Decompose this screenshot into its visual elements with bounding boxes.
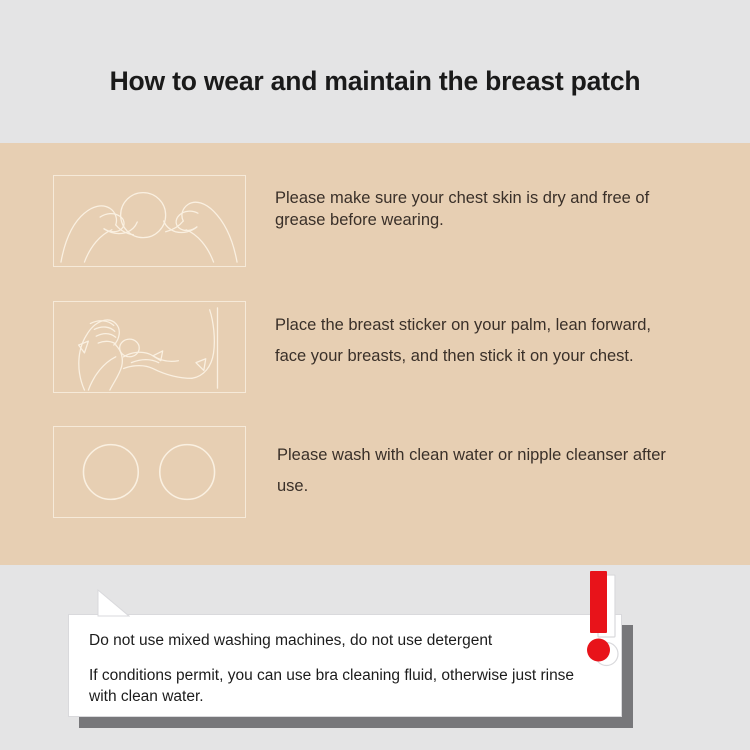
page-title: How to wear and maintain the breast patc… xyxy=(0,66,750,97)
instruction-step-1: Please make sure your chest skin is dry … xyxy=(53,175,686,267)
header-section: How to wear and maintain the breast patc… xyxy=(0,0,750,143)
instruction-step-2: Place the breast sticker on your palm, l… xyxy=(53,301,686,393)
pair-of-round-patches-illustration xyxy=(53,426,246,518)
instruction-step-1-text: Please make sure your chest skin is dry … xyxy=(246,175,686,232)
notice-body: Do not use mixed washing machines, do no… xyxy=(69,615,621,708)
exclamation-mark-icon xyxy=(583,571,627,669)
notice-line-1: Do not use mixed washing machines, do no… xyxy=(89,631,601,652)
woman-leaning-forward-applying-patch-illustration xyxy=(53,301,246,393)
instruction-step-3: Please wash with clean water or nipple c… xyxy=(53,426,686,518)
notice-callout-tail xyxy=(96,589,130,617)
instruction-step-2-text: Place the breast sticker on your palm, l… xyxy=(246,301,686,371)
instructions-band: Please make sure your chest skin is dry … xyxy=(0,143,750,565)
notice-box: Do not use mixed washing machines, do no… xyxy=(68,614,622,717)
notice-line-2: If conditions permit, you can use bra cl… xyxy=(89,666,601,708)
two-hands-holding-patch-illustration xyxy=(53,175,246,267)
instruction-step-3-text: Please wash with clean water or nipple c… xyxy=(246,426,686,501)
